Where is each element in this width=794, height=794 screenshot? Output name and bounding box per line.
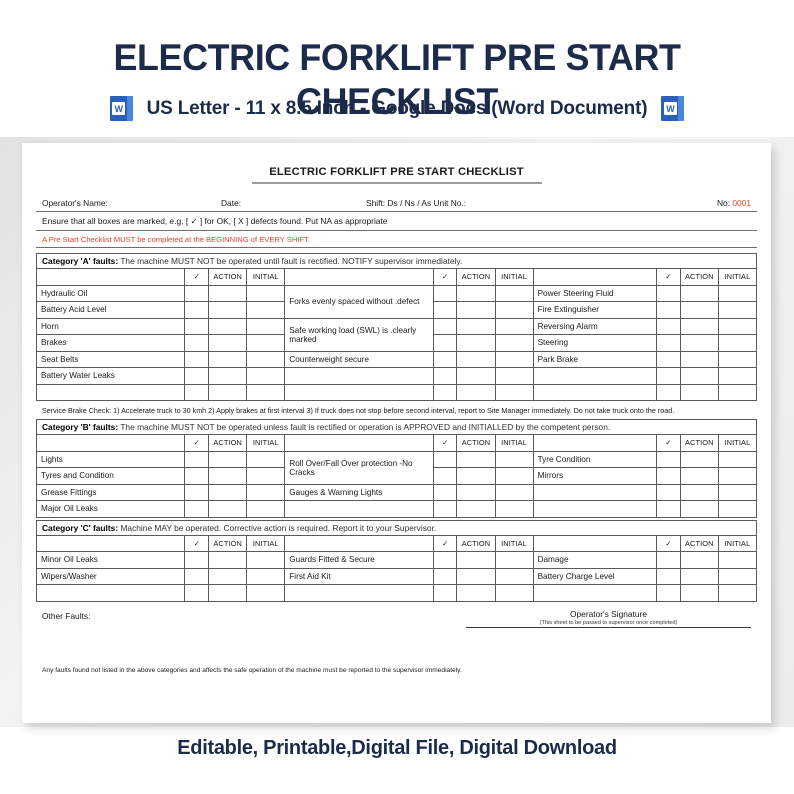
sheet-number-value: 0001 [732,198,751,208]
checklist-item[interactable]: First Aid Kit [285,568,433,585]
action-header-col2: ACTION [457,535,495,552]
checklist-item[interactable]: Forks evenly spaced without .defect [285,285,433,318]
item-header-col1 [37,535,185,552]
category-a-heading-row: Category 'A' faults: The machine MUST NO… [37,254,757,269]
table-row [37,384,757,401]
initial-cell[interactable] [718,552,756,569]
signature-block: Operator's Signature (This sheet to be p… [466,609,751,628]
category-b-column-header-row: ✓ ACTION INITIAL ✓ ACTION INITIAL ✓ ACTI… [37,435,757,452]
banner-subtitle-row: W US Letter - 11 x 8.5 Inch - Google Doc… [0,96,794,121]
tick-header-col3: ✓ [657,269,681,286]
checklist-item[interactable]: Counterweight secure [285,351,433,368]
tick-cell[interactable] [185,368,209,385]
action-header-col2: ACTION [457,269,495,286]
tick-cell[interactable] [657,501,681,518]
category-a-table: Category 'A' faults: The machine MUST NO… [36,253,757,401]
initial-cell[interactable] [495,585,533,602]
checklist-item[interactable] [285,368,433,385]
action-cell[interactable] [457,285,495,302]
initial-header-col3: INITIAL [718,269,756,286]
action-header-col3: ACTION [680,435,718,452]
action-cell[interactable] [209,302,247,319]
action-cell[interactable] [209,351,247,368]
tick-cell[interactable] [657,318,681,335]
tick-header-col3: ✓ [657,535,681,552]
tick-cell[interactable] [657,484,681,501]
tick-cell[interactable] [185,351,209,368]
tick-header-col3: ✓ [657,435,681,452]
checklist-item[interactable]: Lights [37,451,185,468]
initial-cell[interactable] [718,368,756,385]
item-header-col2 [285,535,433,552]
tick-cell[interactable] [657,468,681,485]
checklist-item[interactable]: Battery Water Leaks [37,368,185,385]
action-cell[interactable] [209,384,247,401]
initial-cell[interactable] [495,368,533,385]
initial-header-col2: INITIAL [495,535,533,552]
tick-cell[interactable] [433,368,457,385]
category-c-heading: Category 'C' faults: Machine MAY be oper… [37,520,757,535]
tick-cell[interactable] [433,484,457,501]
action-header-col3: ACTION [680,535,718,552]
initial-header-col3: INITIAL [718,535,756,552]
checklist-item[interactable]: Grease Fittings [37,484,185,501]
tick-header-col1: ✓ [185,435,209,452]
initial-cell[interactable] [718,302,756,319]
tick-cell[interactable] [185,501,209,518]
checklist-item[interactable] [37,384,185,401]
checklist-item[interactable] [533,484,657,501]
initial-cell[interactable] [495,318,533,335]
category-a-column-header-row: ✓ ACTION INITIAL ✓ ACTION INITIAL ✓ ACTI… [37,269,757,286]
checklist-item[interactable]: Battery Acid Level [37,302,185,319]
action-header-col1: ACTION [209,435,247,452]
category-c-table: Category 'C' faults: Machine MAY be oper… [36,520,757,602]
action-cell[interactable] [680,368,718,385]
checklist-item[interactable] [285,585,433,602]
footer-disclaimer: Any faults found not listed in the above… [42,667,462,674]
item-header-col3 [533,435,657,452]
tick-cell[interactable] [185,302,209,319]
tick-cell[interactable] [433,285,457,302]
category-b-table: Category 'B' faults: The machine MUST NO… [36,419,757,518]
date-label: Date: [221,198,366,208]
action-header-col1: ACTION [209,269,247,286]
action-cell[interactable] [457,585,495,602]
category-a-heading: Category 'A' faults: The machine MUST NO… [37,254,757,269]
table-row: Major Oil Leaks [37,501,757,518]
action-cell[interactable] [680,468,718,485]
action-header-col2: ACTION [457,435,495,452]
tick-cell[interactable] [433,335,457,352]
action-cell[interactable] [680,501,718,518]
action-cell[interactable] [457,484,495,501]
signature-title: Operator's Signature [466,609,751,619]
document-title-rule [252,182,542,184]
instruction-note: Ensure that all boxes are marked, e.g. [… [36,212,757,231]
item-header-col2 [285,435,433,452]
initial-cell[interactable] [247,501,285,518]
initial-cell[interactable] [718,451,756,468]
page-root: ELECTRIC FORKLIFT PRE START CHECKLIST W … [0,0,794,794]
action-cell[interactable] [457,501,495,518]
table-row [37,585,757,602]
checklist-item[interactable]: Safe working load (SWL) is .clearly mark… [285,318,433,351]
checklist-item[interactable]: Horn [37,318,185,335]
initial-cell[interactable] [247,335,285,352]
action-cell[interactable] [680,318,718,335]
checklist-item[interactable]: Major Oil Leaks [37,501,185,518]
action-cell[interactable] [457,468,495,485]
tick-cell[interactable] [433,568,457,585]
category-b-description: The machine MUST NOT be operated unless … [120,422,610,432]
action-cell[interactable] [680,451,718,468]
action-cell[interactable] [457,335,495,352]
tick-cell[interactable] [433,302,457,319]
tick-cell[interactable] [657,568,681,585]
initial-cell[interactable] [247,451,285,468]
initial-cell[interactable] [495,351,533,368]
initial-cell[interactable] [247,302,285,319]
initial-cell[interactable] [718,585,756,602]
warning-note: A Pre Start Checklist MUST be completed … [36,231,757,248]
action-cell[interactable] [457,318,495,335]
initial-cell[interactable] [247,468,285,485]
action-cell[interactable] [680,585,718,602]
word-icon: W [110,96,133,121]
service-brake-check-note: Service Brake Check: 1) Accelerate truck… [36,401,757,419]
initial-header-col1: INITIAL [247,269,285,286]
category-c-column-header-row: ✓ ACTION INITIAL ✓ ACTION INITIAL ✓ ACTI… [37,535,757,552]
item-header-col3 [533,269,657,286]
tick-cell[interactable] [433,468,457,485]
tick-cell[interactable] [657,368,681,385]
checklist-item[interactable]: Power Steering Fluid [533,285,657,302]
checklist-item[interactable]: Reversing Alarm [533,318,657,335]
tick-cell[interactable] [433,501,457,518]
checklist-item[interactable]: Roll Over/Fall Over protection -No Crack… [285,451,433,484]
action-cell[interactable] [209,335,247,352]
table-row: Seat Belts Counterweight secure Park Bra… [37,351,757,368]
checklist-item[interactable] [285,501,433,518]
tick-cell[interactable] [433,384,457,401]
initial-cell[interactable] [495,285,533,302]
initial-cell[interactable] [495,468,533,485]
action-cell[interactable] [457,451,495,468]
initial-cell[interactable] [718,501,756,518]
category-b-heading: Category 'B' faults: The machine MUST NO… [37,420,757,435]
tick-cell[interactable] [185,552,209,569]
operator-name-label: Operator's Name: [36,198,221,208]
initial-header-col2: INITIAL [495,269,533,286]
action-cell[interactable] [680,384,718,401]
footer-caption: Editable, Printable,Digital File, Digita… [0,737,794,760]
checklist-item[interactable]: Steering [533,335,657,352]
checklist-item[interactable]: Damage [533,552,657,569]
category-a-label: Category 'A' faults: [42,256,118,266]
action-cell[interactable] [680,351,718,368]
initial-cell[interactable] [495,335,533,352]
category-a-description: The machine MUST NOT be operated until f… [120,256,462,266]
category-c-label: Category 'C' faults: [42,523,118,533]
tick-cell[interactable] [185,568,209,585]
initial-cell[interactable] [718,351,756,368]
initial-cell[interactable] [495,568,533,585]
initial-header-col1: INITIAL [247,535,285,552]
action-cell[interactable] [680,335,718,352]
document-header-row: Operator's Name: Date: Shift: Ds / Ns / … [36,198,757,212]
document-sheet: ELECTRIC FORKLIFT PRE START CHECKLIST Op… [22,143,771,723]
initial-cell[interactable] [495,451,533,468]
checklist-item[interactable] [533,384,657,401]
checklist-item[interactable]: Tyres and Condition [37,468,185,485]
checklist-item[interactable]: Gauges & Warning Lights [285,484,433,501]
table-row: Minor Oil Leaks Guards Fitted & Secure D… [37,552,757,569]
category-c-heading-row: Category 'C' faults: Machine MAY be oper… [37,520,757,535]
tick-cell[interactable] [433,451,457,468]
action-cell[interactable] [457,568,495,585]
tick-cell[interactable] [657,351,681,368]
initial-cell[interactable] [247,318,285,335]
tick-header-col2: ✓ [433,535,457,552]
initial-cell[interactable] [718,285,756,302]
tick-header-col1: ✓ [185,269,209,286]
tick-cell[interactable] [185,585,209,602]
tick-cell[interactable] [433,351,457,368]
tick-cell[interactable] [657,335,681,352]
tick-header-col2: ✓ [433,435,457,452]
document-title: ELECTRIC FORKLIFT PRE START CHECKLIST [36,166,757,178]
initial-cell[interactable] [718,335,756,352]
checklist-item[interactable]: Guards Fitted & Secure [285,552,433,569]
action-cell[interactable] [209,552,247,569]
action-header-col1: ACTION [209,535,247,552]
document-footer: Other Faults: Operator's Signature (This… [36,611,757,691]
initial-header-col2: INITIAL [495,435,533,452]
initial-cell[interactable] [495,552,533,569]
initial-header-col1: INITIAL [247,435,285,452]
item-header-col3 [533,535,657,552]
action-cell[interactable] [457,302,495,319]
initial-cell[interactable] [718,468,756,485]
checklist-item[interactable]: Minor Oil Leaks [37,552,185,569]
item-header-col1 [37,269,185,286]
shift-unit-label: Shift: Ds / Ns / As Unit No.: [366,198,717,208]
tick-cell[interactable] [433,552,457,569]
signature-line[interactable] [466,627,751,628]
checklist-item[interactable] [533,501,657,518]
action-cell[interactable] [209,451,247,468]
action-cell[interactable] [209,484,247,501]
initial-cell[interactable] [495,384,533,401]
action-cell[interactable] [209,585,247,602]
item-header-col2 [285,269,433,286]
table-row: Battery Water Leaks [37,368,757,385]
checklist-item[interactable]: Hydraulic Oil [37,285,185,302]
table-row: Lights Roll Over/Fall Over protection -N… [37,451,757,468]
initial-cell[interactable] [247,552,285,569]
word-icon: W [661,96,684,121]
action-cell[interactable] [457,384,495,401]
checklist-item[interactable]: Tyre Condition [533,451,657,468]
action-cell[interactable] [209,568,247,585]
category-b-label: Category 'B' faults: [42,422,118,432]
initial-cell[interactable] [495,501,533,518]
tick-cell[interactable] [185,484,209,501]
action-cell[interactable] [680,285,718,302]
initial-cell[interactable] [495,302,533,319]
tick-cell[interactable] [185,335,209,352]
tick-header-col2: ✓ [433,269,457,286]
signature-subtitle: (This sheet to be passed to supervisor o… [466,620,751,626]
initial-cell[interactable] [247,484,285,501]
tick-cell[interactable] [657,451,681,468]
tick-header-col1: ✓ [185,535,209,552]
action-cell[interactable] [680,568,718,585]
initial-header-col3: INITIAL [718,435,756,452]
tick-cell[interactable] [185,468,209,485]
tick-cell[interactable] [657,285,681,302]
category-c-description: Machine MAY be operated. Corrective acti… [120,523,436,533]
initial-cell[interactable] [247,351,285,368]
sheet-number-label: No: [717,198,730,208]
action-cell[interactable] [209,468,247,485]
checklist-item[interactable] [533,585,657,602]
action-cell[interactable] [680,302,718,319]
action-cell[interactable] [209,285,247,302]
initial-cell[interactable] [247,384,285,401]
action-header-col3: ACTION [680,269,718,286]
tick-cell[interactable] [185,384,209,401]
initial-cell[interactable] [718,384,756,401]
tick-cell[interactable] [657,585,681,602]
action-cell[interactable] [680,552,718,569]
checklist-item[interactable]: Battery Charge Level [533,568,657,585]
checklist-item[interactable]: Wipers/Washer [37,568,185,585]
action-cell[interactable] [680,484,718,501]
tick-cell[interactable] [657,552,681,569]
action-cell[interactable] [209,318,247,335]
action-cell[interactable] [209,501,247,518]
checklist-item[interactable] [285,384,433,401]
tick-cell[interactable] [185,285,209,302]
initial-cell[interactable] [718,568,756,585]
tick-cell[interactable] [657,302,681,319]
action-cell[interactable] [209,368,247,385]
table-row: Wipers/Washer First Aid Kit Battery Char… [37,568,757,585]
tick-cell[interactable] [185,451,209,468]
initial-cell[interactable] [495,484,533,501]
table-row: Hydraulic Oil Forks evenly spaced withou… [37,285,757,302]
table-row: Grease Fittings Gauges & Warning Lights [37,484,757,501]
item-header-col1 [37,435,185,452]
initial-cell[interactable] [247,368,285,385]
tick-cell[interactable] [657,384,681,401]
checklist-item[interactable] [37,585,185,602]
checklist-item[interactable]: Park Brake [533,351,657,368]
checklist-item[interactable]: Mirrors [533,468,657,485]
action-cell[interactable] [457,552,495,569]
initial-cell[interactable] [718,318,756,335]
initial-cell[interactable] [247,285,285,302]
initial-cell[interactable] [247,568,285,585]
tick-cell[interactable] [185,318,209,335]
tick-cell[interactable] [433,585,457,602]
initial-cell[interactable] [247,585,285,602]
category-b-heading-row: Category 'B' faults: The machine MUST NO… [37,420,757,435]
action-cell[interactable] [457,351,495,368]
tick-cell[interactable] [433,318,457,335]
checklist-item[interactable]: Seat Belts [37,351,185,368]
initial-cell[interactable] [718,484,756,501]
sheet-number: No: 0001 [717,198,757,208]
banner-subtitle-text: US Letter - 11 x 8.5 Inch - Google Docs … [147,98,648,120]
checklist-item[interactable] [533,368,657,385]
checklist-item[interactable]: Fire Extinguisher [533,302,657,319]
table-row: Horn Safe working load (SWL) is .clearly… [37,318,757,335]
checklist-item[interactable]: Brakes [37,335,185,352]
action-cell[interactable] [457,368,495,385]
